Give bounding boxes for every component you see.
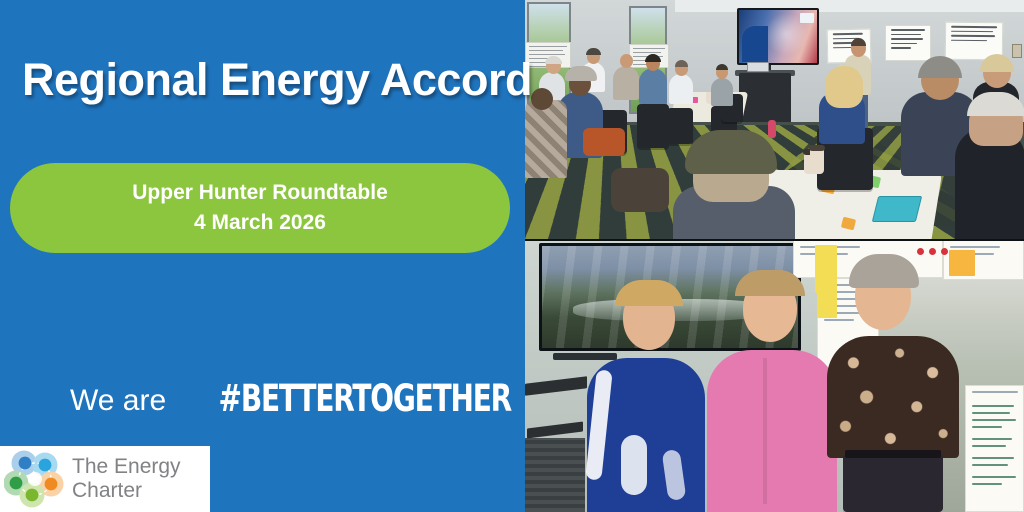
presenter-hair: [851, 38, 866, 46]
teal-folder: [872, 196, 922, 222]
roundtable-meeting-photo: [525, 0, 1024, 240]
attendee-hair: [675, 60, 688, 67]
attendee-torso: [711, 78, 733, 106]
attendee-hair: [716, 64, 728, 70]
attendee-blonde-hair: [825, 66, 863, 108]
event-name: Upper Hunter Roundtable: [132, 180, 388, 206]
pink-bottle: [768, 120, 776, 138]
photo-divider: [525, 239, 1024, 241]
logo-line-2: Charter: [72, 479, 181, 503]
tagline-hashtag: #BETTERTOGETHER: [219, 378, 511, 421]
energy-charter-circles-logo-icon: [4, 449, 66, 509]
perforated-panel: [525, 438, 585, 512]
attendee-orange-trousers: [583, 128, 625, 156]
event-details-pill: Upper Hunter Roundtable 4 March 2026: [10, 163, 510, 253]
person-3-torso: [827, 336, 959, 458]
event-date: 4 March 2026: [194, 210, 326, 236]
left-text-panel: Regional Energy Accord Upper Hunter Roun…: [0, 0, 525, 512]
attendee-torso: [613, 66, 639, 100]
chair: [667, 108, 693, 144]
tagline-prefix: We are: [70, 384, 166, 418]
person-3-trousers: [843, 454, 943, 512]
attendee-hair: [586, 48, 601, 55]
dot-sticker: [941, 248, 948, 255]
dot-sticker: [929, 248, 936, 255]
sticky-note: [817, 276, 837, 318]
flat-cap: [565, 66, 597, 81]
attendee-torso: [639, 68, 667, 104]
wall-poster-2: [885, 25, 931, 61]
logo-lockup: The Energy Charter: [0, 446, 210, 512]
person-2-shirt-placket: [763, 358, 767, 504]
page-title: Regional Energy Accord: [22, 56, 516, 103]
coffee-cup-lid: [809, 145, 825, 151]
dot-sticker: [917, 248, 924, 255]
backpack: [611, 168, 669, 212]
flat-cap: [685, 130, 777, 174]
wall-frame: [1012, 44, 1022, 58]
logo-line-1: The Energy: [72, 455, 181, 479]
person-1-dress-pattern: [621, 435, 647, 495]
flipchart-sheet-handwritten: [965, 385, 1024, 512]
av-cart: [739, 73, 791, 125]
attendees-group-photo: [525, 240, 1024, 512]
photo-column: [525, 0, 1024, 512]
sticky-note: [949, 250, 975, 276]
laptop: [747, 62, 769, 72]
attendee-head: [620, 54, 633, 68]
attendee-torso: [669, 74, 693, 104]
presentation-screen: [737, 8, 819, 65]
attendee-plaid-shirt: [525, 100, 567, 178]
attendee-hair-grey: [545, 56, 562, 64]
soundbar: [553, 353, 617, 360]
person-2-torso: [707, 350, 837, 512]
ceiling: [675, 0, 1024, 12]
person-3-belt: [845, 450, 941, 458]
chair: [637, 104, 669, 148]
coffee-cup-foreground: [810, 148, 824, 174]
event-promo-banner: Regional Energy Accord Upper Hunter Roun…: [0, 0, 1024, 512]
attendee-head: [531, 88, 553, 110]
logo-wordmark: The Energy Charter: [72, 455, 181, 502]
tagline: We are #BETTERTOGETHER: [70, 379, 548, 419]
